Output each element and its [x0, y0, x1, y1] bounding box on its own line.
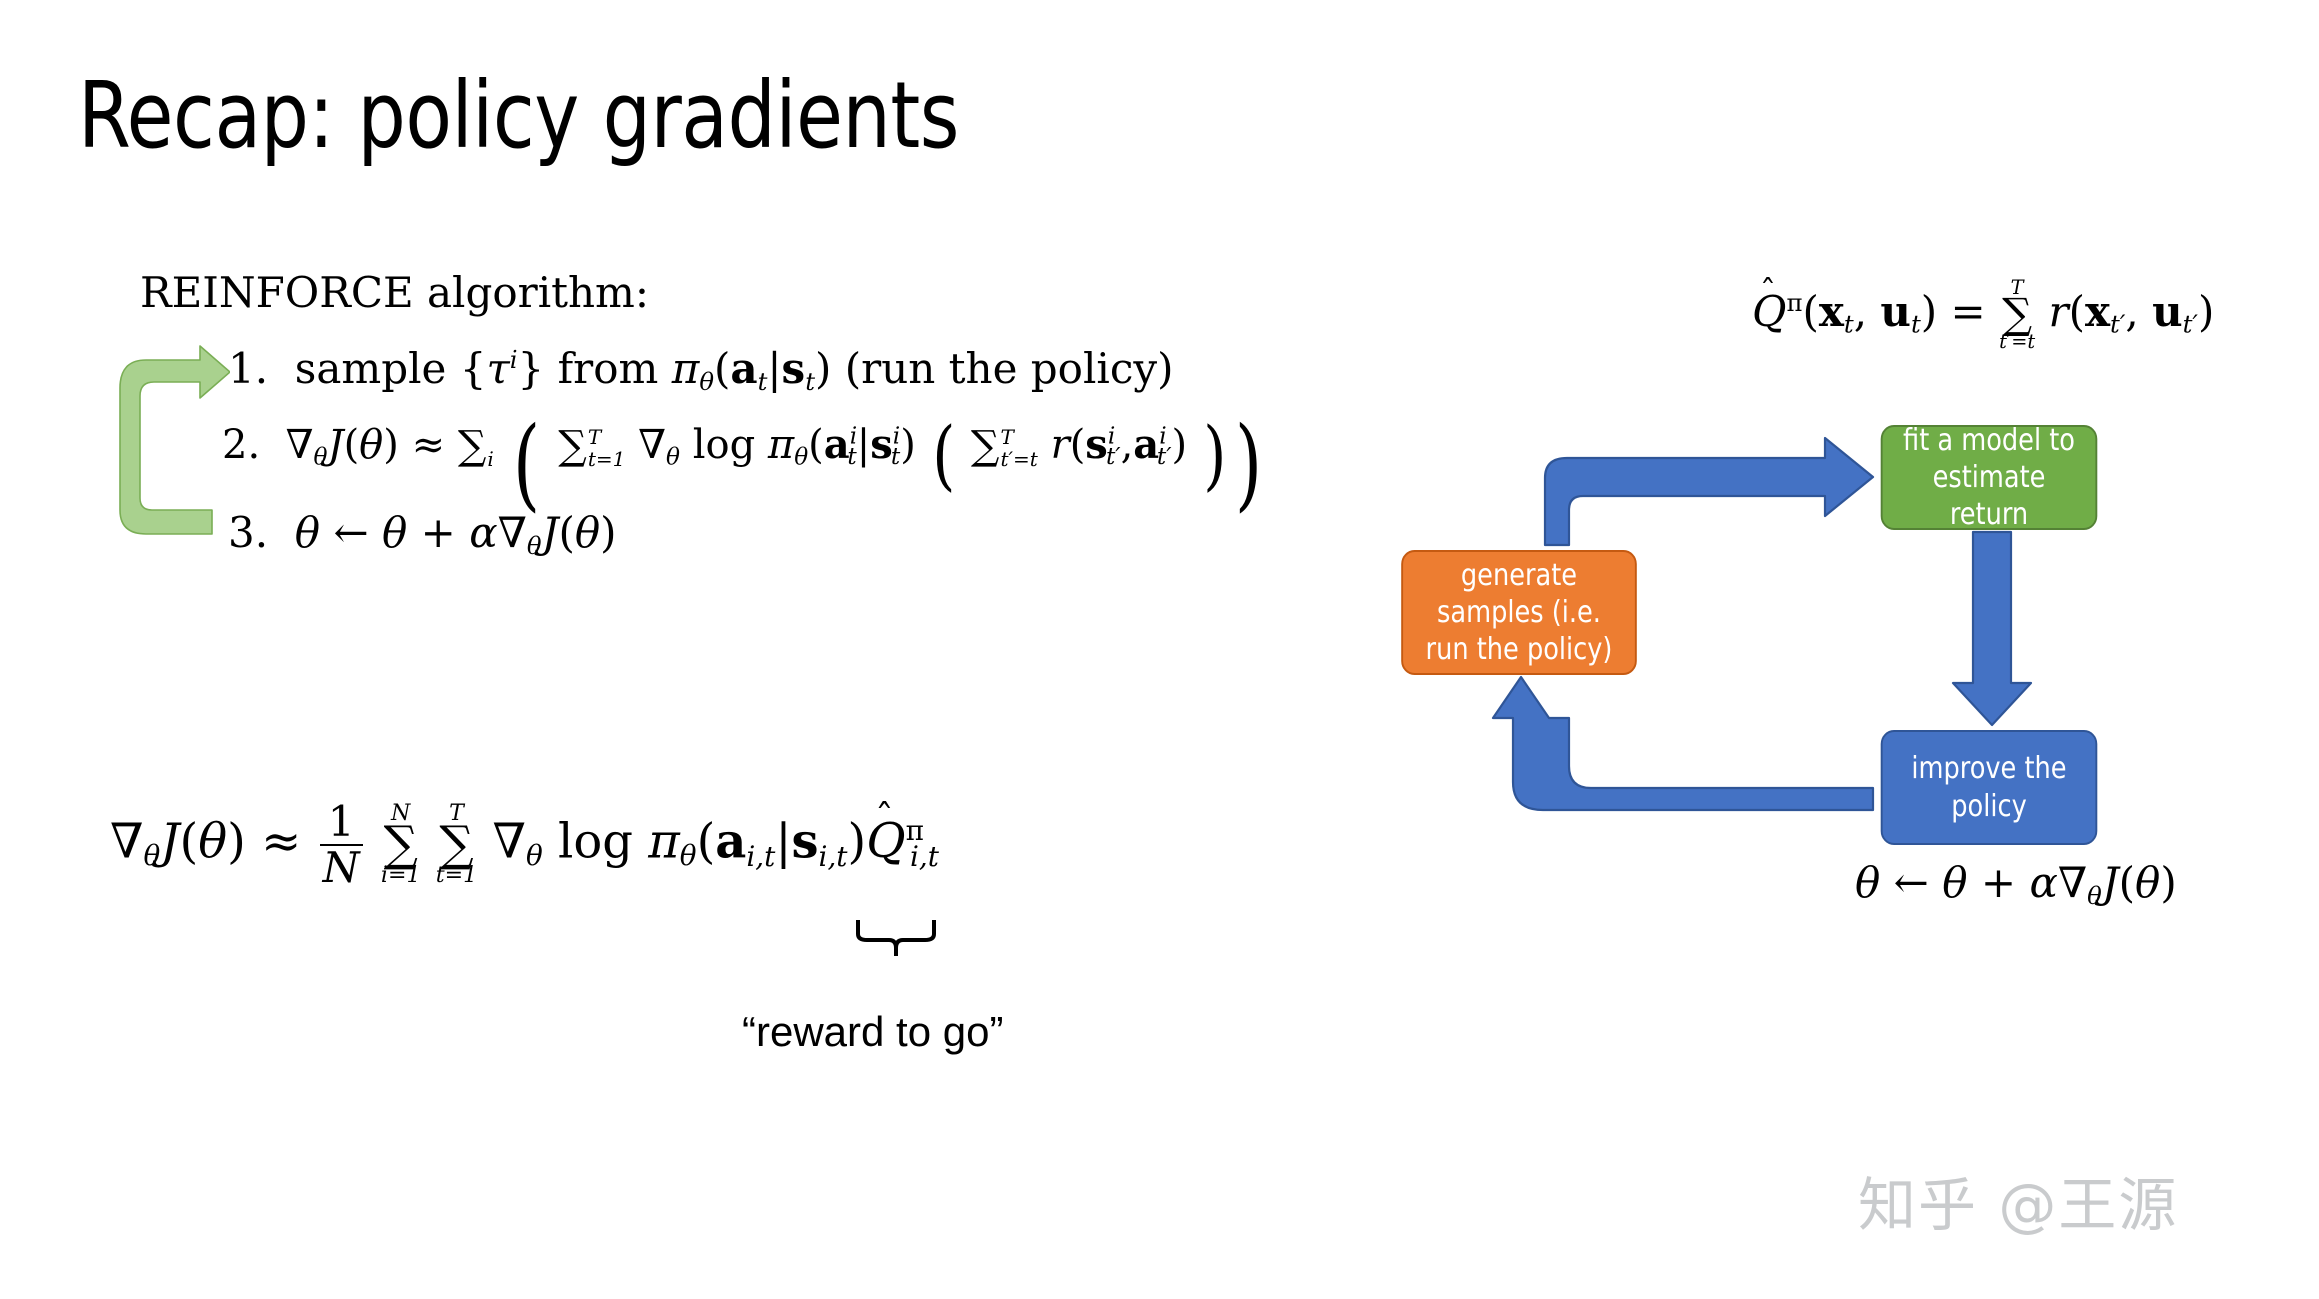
u-subscript: t	[1911, 310, 1921, 339]
left-arrow-icon: ←	[333, 508, 368, 557]
policy-gradient-formula: ∇θJ(θ) ≈ 1N N∑i=1 T∑t=1 ∇θ log πθ(ai,t|s…	[110, 800, 939, 890]
pi-theta-subscript: θ	[699, 367, 714, 396]
nabla-theta-subscript: θ	[2087, 881, 2102, 910]
theta-arg: θ	[2135, 858, 2160, 907]
plus-sign: +	[421, 508, 456, 557]
plus-sign: +	[1981, 858, 2016, 907]
node-fit-a-model[interactable]: fit a model to estimate return	[1881, 425, 2098, 530]
action-symbol: a	[824, 421, 850, 468]
action-symbol: a	[1133, 421, 1159, 468]
action-symbol: a	[730, 344, 757, 393]
q-hat-group: ˆQ	[866, 817, 905, 865]
rl-loop-diagram: fit a model to estimate return generate …	[1395, 425, 2205, 865]
algo-step-1-verb: sample	[295, 344, 447, 393]
approx-sign: ≈	[261, 813, 301, 869]
theta-symbol: θ	[1942, 858, 1967, 907]
alpha-symbol: α	[469, 508, 497, 557]
inner-sum: ∑Tt=1	[558, 426, 625, 471]
slide-canvas: Recap: policy gradients REINFORCE algori…	[0, 0, 2319, 1299]
sum-glyph: ∑	[381, 822, 421, 866]
node-generate-line2: samples (i.e.	[1437, 595, 1601, 630]
log-operator: log	[558, 813, 633, 869]
pi-symbol: π	[648, 813, 680, 869]
algo-step-3-number: 3.	[228, 508, 268, 557]
nabla-icon: ∇	[110, 813, 144, 869]
reinforce-heading: REINFORCE algorithm:	[140, 272, 649, 314]
nabla-icon: ∇	[286, 422, 314, 468]
hat-accent: ˆ	[875, 800, 894, 837]
x-subscript-tprime: t′	[2110, 310, 2125, 339]
state-subscript: t	[891, 443, 900, 470]
sum-i-lower: i=1	[381, 865, 421, 887]
node-fit-line2: estimate return	[1933, 460, 2046, 532]
node-improve-line1: improve the	[1911, 751, 2066, 786]
sum-glyph: ∑	[436, 822, 477, 866]
state-symbol: s	[1085, 421, 1108, 468]
sum-lower-limit: t′=t	[1999, 332, 2035, 351]
algo-step-1: 1. sample {τi} from πθ(at|st) (run the p…	[228, 348, 1173, 390]
pi-theta-subscript: θ	[794, 443, 808, 470]
x-symbol: x	[1819, 287, 1844, 336]
reward-sum-upper: T	[1000, 427, 1037, 448]
theta-arg: θ	[359, 422, 383, 468]
state-symbol: s	[870, 421, 893, 468]
nabla-icon: ∇	[498, 508, 527, 557]
q-subscript-indices: i,t	[910, 840, 939, 873]
alpha-symbol: α	[2029, 858, 2057, 907]
algo-step-1-number: 1.	[228, 344, 268, 393]
sum-t-lower: t=1	[436, 865, 477, 887]
sum-over-t: T∑t=1	[436, 803, 477, 887]
nabla-theta-subscript: θ	[526, 839, 543, 872]
equals-sign: =	[1951, 287, 1986, 336]
left-arrow-icon: ←	[1894, 858, 1929, 907]
nabla-theta-subscript: θ	[666, 443, 680, 470]
q-superscript-pi: π	[1786, 288, 1802, 317]
hat-accent: ˆ	[1760, 276, 1776, 309]
theta-arg: θ	[198, 813, 227, 869]
algo-step-1-from: from	[558, 344, 659, 393]
state-symbol: s	[792, 813, 819, 869]
u-symbol: u	[2152, 287, 2183, 336]
objective-J: J	[328, 422, 344, 468]
pi-symbol: π	[672, 344, 700, 393]
state-symbol: s	[782, 344, 806, 393]
state-indices: i,t	[819, 840, 848, 873]
algo-step-3: 3. θ ← θ + α∇θJ(θ)	[228, 512, 617, 554]
x-subscript: t	[1844, 310, 1854, 339]
outer-sum: ∑ i	[458, 426, 494, 471]
q-function-formula: ˆQπ(xt, ut) = T∑t′=t r(xt′, ut′)	[1752, 278, 2214, 352]
reward-sum-lower: t′=t	[1000, 449, 1037, 470]
nabla-icon: ∇	[492, 813, 526, 869]
algo-step-2-number: 2.	[222, 422, 260, 468]
state-subscript: t	[805, 367, 815, 396]
nabla-icon: ∇	[638, 422, 666, 468]
u-symbol: u	[1880, 287, 1911, 336]
nabla-theta-subscript: θ	[314, 443, 328, 470]
inner-sum-lower: t=1	[588, 449, 626, 470]
node-improve-line2: policy	[1951, 789, 2026, 824]
theta-symbol: θ	[1855, 858, 1880, 907]
action-subscript: t	[758, 367, 768, 396]
log-operator: log	[693, 422, 755, 468]
one-over-n-fraction: 1N	[320, 800, 363, 890]
theta-symbol: θ	[382, 508, 407, 557]
objective-J: J	[160, 813, 179, 869]
action-symbol: a	[715, 813, 746, 869]
fraction-denominator: N	[320, 844, 363, 890]
node-generate-line1: generate	[1461, 558, 1577, 593]
watermark: 知乎 @王源	[1858, 1158, 2178, 1242]
u-subscript-tprime: t′	[2183, 310, 2198, 339]
nabla-theta-subscript: θ	[527, 531, 542, 560]
inner-sum-upper: T	[588, 427, 626, 448]
node-generate-line3: run the policy)	[1426, 632, 1613, 667]
theta-symbol: θ	[295, 508, 320, 557]
algo-step-2: 2. ∇θJ(θ) ≈ ∑ i ( ∑Tt=1 ∇θ log πθ(ait|si…	[222, 425, 1269, 470]
sum-glyph: ∑	[458, 423, 487, 469]
q-hat-group: ˆQ	[1752, 291, 1786, 333]
nabla-theta-subscript: θ	[144, 839, 161, 872]
sum-over-tprime: T∑t′=t	[1999, 278, 2035, 352]
objective-J: J	[2102, 858, 2119, 907]
reward-function: r	[2049, 287, 2069, 336]
tau-symbol: τ	[486, 344, 509, 393]
objective-J: J	[542, 508, 559, 557]
underbrace-icon	[855, 918, 937, 956]
sum-over-i: N∑i=1	[381, 803, 421, 887]
page-title: Recap: policy gradients	[78, 62, 959, 169]
sum-glyph: ∑	[971, 423, 1000, 469]
algo-step-1-parenthetical: (run the policy)	[845, 344, 1174, 393]
sum-glyph: ∑	[558, 423, 587, 469]
node-generate-samples[interactable]: generate samples (i.e. run the policy)	[1401, 550, 1637, 675]
pi-symbol: π	[768, 422, 794, 468]
action-subscript: t	[847, 443, 856, 470]
node-fit-line1: fit a model to	[1903, 423, 2075, 458]
reward-sum: ∑Tt′=t	[971, 426, 1038, 471]
pi-theta-subscript: θ	[680, 839, 697, 872]
reward-function: r	[1051, 422, 1070, 468]
tau-superscript: i	[510, 345, 518, 374]
node-improve-the-policy[interactable]: improve the policy	[1881, 730, 2098, 845]
theta-update-formula: θ ← θ + α∇θJ(θ)	[1855, 862, 2177, 904]
theta-arg: θ	[575, 508, 600, 557]
approx-sign: ≈	[412, 422, 446, 468]
fraction-numerator: 1	[320, 800, 363, 844]
green-loop-arrow-icon	[112, 342, 230, 552]
x-symbol: x	[2085, 287, 2110, 336]
action-indices: i,t	[746, 840, 775, 873]
reward-to-go-label: “reward to go”	[742, 1008, 1003, 1056]
outer-sum-index: i	[487, 449, 493, 470]
nabla-icon: ∇	[2058, 858, 2087, 907]
sum-glyph: ∑	[1999, 295, 2035, 334]
